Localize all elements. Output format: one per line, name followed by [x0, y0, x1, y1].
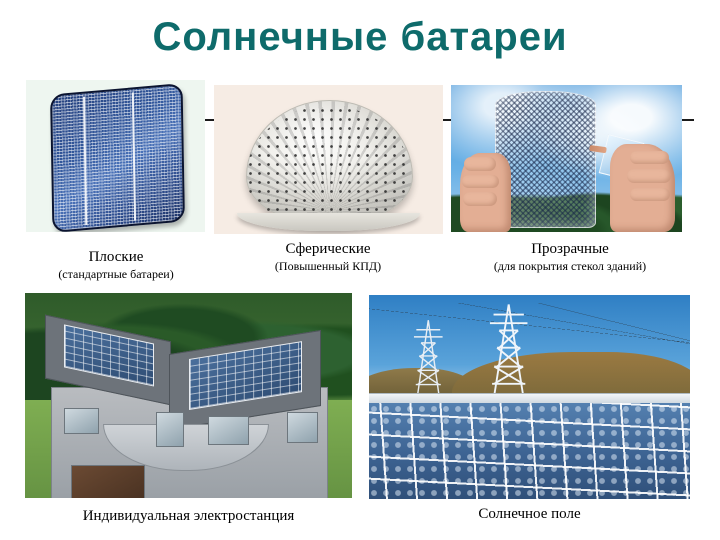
- solar-panel-array: [369, 403, 690, 499]
- transparent-solar-film-photo: [451, 85, 682, 232]
- left-hand: [460, 153, 511, 232]
- caption-spherical: Сферические (Повышенный КПД): [228, 240, 428, 274]
- finger: [630, 188, 670, 201]
- solar-field-photo: [369, 295, 690, 499]
- flat-cell-illustration: [26, 80, 205, 232]
- house-window: [287, 412, 318, 443]
- finger: [630, 151, 669, 164]
- cell-busbar: [83, 96, 87, 225]
- caption-transparent-subtitle: (для покрытия стекол зданий): [452, 259, 688, 274]
- transmission-pylon-icon: [475, 303, 542, 397]
- house-window: [64, 408, 99, 435]
- caption-flat-subtitle: (стандартные батареи): [16, 267, 216, 282]
- page-title: Солнечные батареи: [0, 16, 720, 58]
- transmission-pylon-icon: [401, 319, 456, 397]
- solar-cell-plate: [50, 83, 185, 232]
- spherical-solar-cell-photo: [214, 85, 443, 234]
- house-rooftop-solar-photo: [25, 293, 352, 498]
- house-door: [71, 465, 145, 498]
- house-window: [156, 412, 184, 447]
- finger: [463, 192, 497, 205]
- slide: Солнечные батареи: [0, 0, 720, 540]
- house-window: [208, 416, 249, 445]
- caption-transparent: Прозрачные (для покрытия стекол зданий): [452, 240, 688, 274]
- flat-solar-cell-photo: [26, 80, 205, 232]
- caption-spherical-subtitle: (Повышенный КПД): [228, 259, 428, 274]
- caption-spherical-title: Сферические: [228, 240, 428, 259]
- finger: [462, 175, 499, 188]
- caption-flat-title: Плоские: [16, 248, 216, 267]
- dome-cell-base: [237, 213, 420, 231]
- finger: [464, 157, 496, 170]
- caption-individual-power-station: Индивидуальная электростанция: [25, 508, 352, 525]
- cell-busbar: [132, 92, 136, 221]
- caption-solar-field: Солнечное поле: [369, 506, 690, 523]
- caption-transparent-title: Прозрачные: [452, 240, 688, 259]
- right-hand: [610, 144, 675, 232]
- caption-flat: Плоские (стандартные батареи): [16, 248, 216, 282]
- finger: [627, 169, 671, 182]
